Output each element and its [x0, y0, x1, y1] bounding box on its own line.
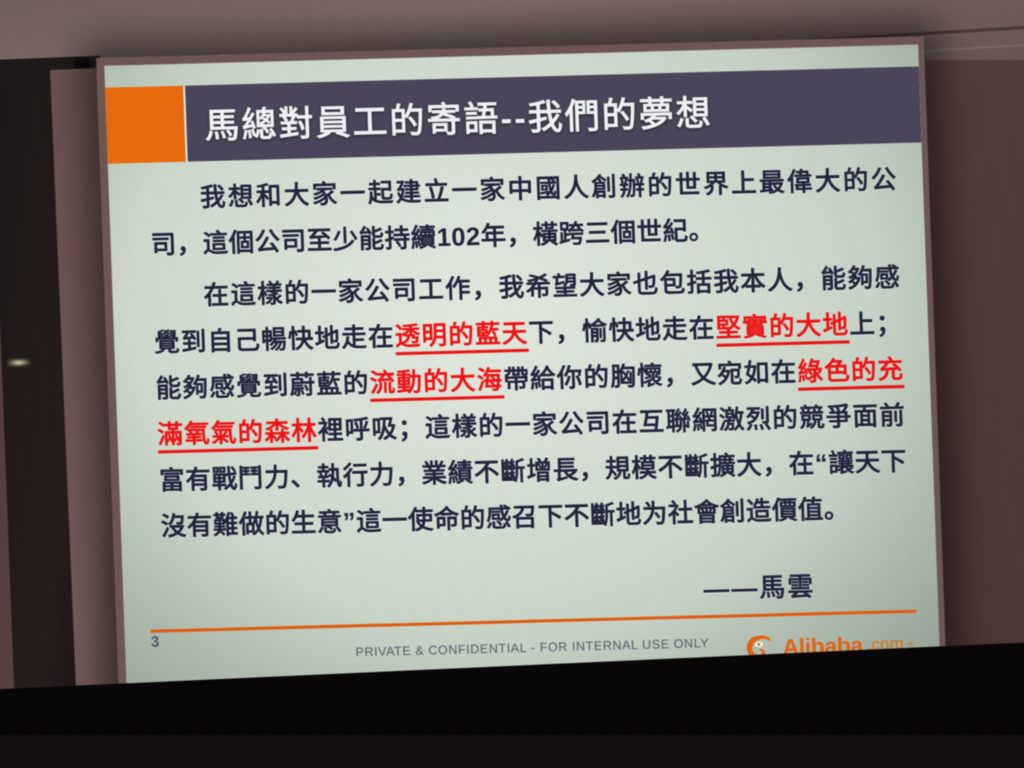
room-photo-scene: 馬總對員工的寄語--我們的夢想 我想和大家一起建立一家中國人創辦的世界上最偉大的…: [0, 0, 1024, 768]
page-number: 3: [151, 634, 160, 651]
projection-screen: 馬總對員工的寄語--我們的夢想 我想和大家一起建立一家中國人創辦的世界上最偉大的…: [96, 36, 947, 705]
title-accent-swatch: [105, 86, 186, 164]
slide-title-band: 馬總對員工的寄語--我們的夢想: [105, 66, 921, 163]
paragraph-1: 我想和大家一起建立一家中國人創辦的世界上最偉大的公司，這個公司至少能持續102年…: [148, 157, 899, 269]
text-run: 下，愉快地走在: [528, 315, 716, 348]
title-bar: 馬總對員工的寄語--我們的夢想: [183, 66, 922, 161]
slide-surface: 馬總對員工的寄語--我們的夢想 我想和大家一起建立一家中國人創辦的世界上最偉大的…: [104, 44, 940, 695]
slide-body: 我想和大家一起建立一家中國人創辦的世界上最偉大的公司，這個公司至少能持續102年…: [148, 157, 912, 632]
highlight-solid-earth: 堅實的大地: [715, 311, 850, 346]
highlight-blue-sky: 透明的藍天: [394, 320, 529, 355]
slide-attribution: ——馬雲: [163, 561, 912, 627]
paragraph-2: 在這樣的一家公司工作，我希望大家也包括我本人，能夠感覺到自己暢快地走在透明的藍天…: [152, 255, 910, 550]
screen-border: 馬總對員工的寄語--我們的夢想 我想和大家一起建立一家中國人創辦的世界上最偉大的…: [96, 36, 947, 705]
door-light-reflection-icon: [8, 359, 30, 367]
text-run: 我想和大家一起建立一家中國人創辦的世界上最偉大的公司，這個公司至少能持續102年…: [150, 166, 897, 260]
slide-title: 馬總對員工的寄語--我們的夢想: [203, 84, 713, 148]
highlight-flowing-sea: 流動的大海: [369, 366, 504, 401]
text-run: 帶給你的胸懷，又宛如在: [503, 359, 798, 395]
floor-dark-band: [0, 735, 1024, 768]
